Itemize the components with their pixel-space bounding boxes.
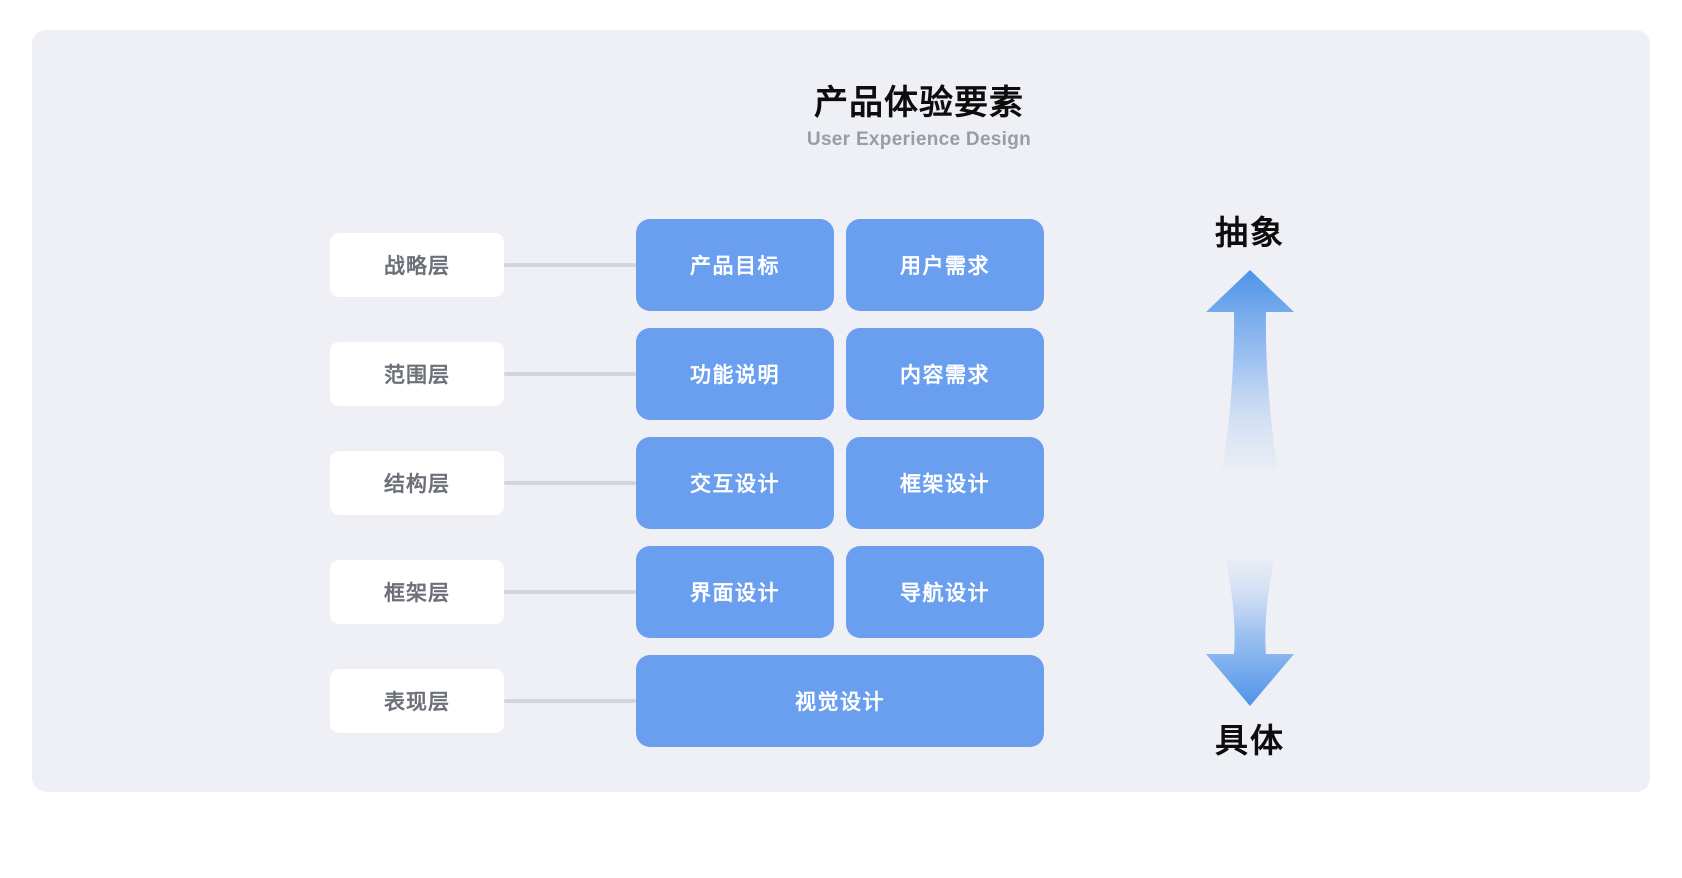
- connector-line: [504, 590, 636, 594]
- element-card-label: 视觉设计: [795, 686, 885, 716]
- element-card[interactable]: 框架设计: [846, 437, 1044, 529]
- element-card-label: 交互设计: [690, 468, 780, 498]
- layer-chip-label: 结构层: [384, 468, 450, 498]
- arrow-down-gradient-icon: [1204, 558, 1296, 708]
- diagram-header: 产品体验要素 User Experience Design: [32, 82, 1650, 154]
- layer-chip-2[interactable]: 范围层: [330, 342, 504, 406]
- diagram-panel: 产品体验要素 User Experience Design 战略层产品目标用户需…: [32, 30, 1650, 792]
- element-card[interactable]: 界面设计: [636, 546, 834, 638]
- card-group: 交互设计框架设计: [636, 437, 1044, 529]
- layer-chip-4[interactable]: 框架层: [330, 560, 504, 624]
- arrow-up-gradient-icon: [1204, 268, 1296, 472]
- layer-row: 范围层功能说明内容需求: [330, 319, 1110, 428]
- element-card-label: 界面设计: [690, 577, 780, 607]
- page-subtitle: User Experience Design: [188, 126, 1650, 154]
- layer-chip-1[interactable]: 战略层: [330, 233, 504, 297]
- element-card[interactable]: 交互设计: [636, 437, 834, 529]
- card-group: 界面设计导航设计: [636, 546, 1044, 638]
- element-card-label: 功能说明: [690, 359, 780, 389]
- layer-row: 战略层产品目标用户需求: [330, 210, 1110, 319]
- page-title: 产品体验要素: [188, 82, 1650, 124]
- element-card-label: 用户需求: [900, 250, 990, 280]
- connector-line: [504, 699, 636, 703]
- element-card-label: 内容需求: [900, 359, 990, 389]
- card-group: 功能说明内容需求: [636, 328, 1044, 420]
- layer-chip-label: 战略层: [384, 250, 450, 280]
- layer-rows: 战略层产品目标用户需求范围层功能说明内容需求结构层交互设计框架设计框架层界面设计…: [330, 210, 1110, 755]
- abstraction-axis: 抽象: [1140, 206, 1360, 786]
- element-card[interactable]: 功能说明: [636, 328, 834, 420]
- element-card[interactable]: 内容需求: [846, 328, 1044, 420]
- element-card[interactable]: 视觉设计: [636, 655, 1044, 747]
- layer-row: 框架层界面设计导航设计: [330, 537, 1110, 646]
- diagram-canvas: 产品体验要素 User Experience Design 战略层产品目标用户需…: [0, 0, 1682, 878]
- axis-label-abstract: 抽象: [1140, 206, 1360, 254]
- layer-chip-label: 范围层: [384, 359, 450, 389]
- element-card[interactable]: 导航设计: [846, 546, 1044, 638]
- connector-line: [504, 481, 636, 485]
- card-group: 产品目标用户需求: [636, 219, 1044, 311]
- layer-row: 结构层交互设计框架设计: [330, 428, 1110, 537]
- element-card-label: 导航设计: [900, 577, 990, 607]
- layer-chip-3[interactable]: 结构层: [330, 451, 504, 515]
- axis-label-concrete: 具体: [1140, 714, 1360, 762]
- layer-chip-5[interactable]: 表现层: [330, 669, 504, 733]
- layer-chip-label: 表现层: [384, 686, 450, 716]
- card-group: 视觉设计: [636, 655, 1044, 747]
- layer-chip-label: 框架层: [384, 577, 450, 607]
- element-card-label: 框架设计: [900, 468, 990, 498]
- connector-line: [504, 263, 636, 267]
- element-card[interactable]: 产品目标: [636, 219, 834, 311]
- connector-line: [504, 372, 636, 376]
- element-card-label: 产品目标: [690, 250, 780, 280]
- layer-row: 表现层视觉设计: [330, 646, 1110, 755]
- element-card[interactable]: 用户需求: [846, 219, 1044, 311]
